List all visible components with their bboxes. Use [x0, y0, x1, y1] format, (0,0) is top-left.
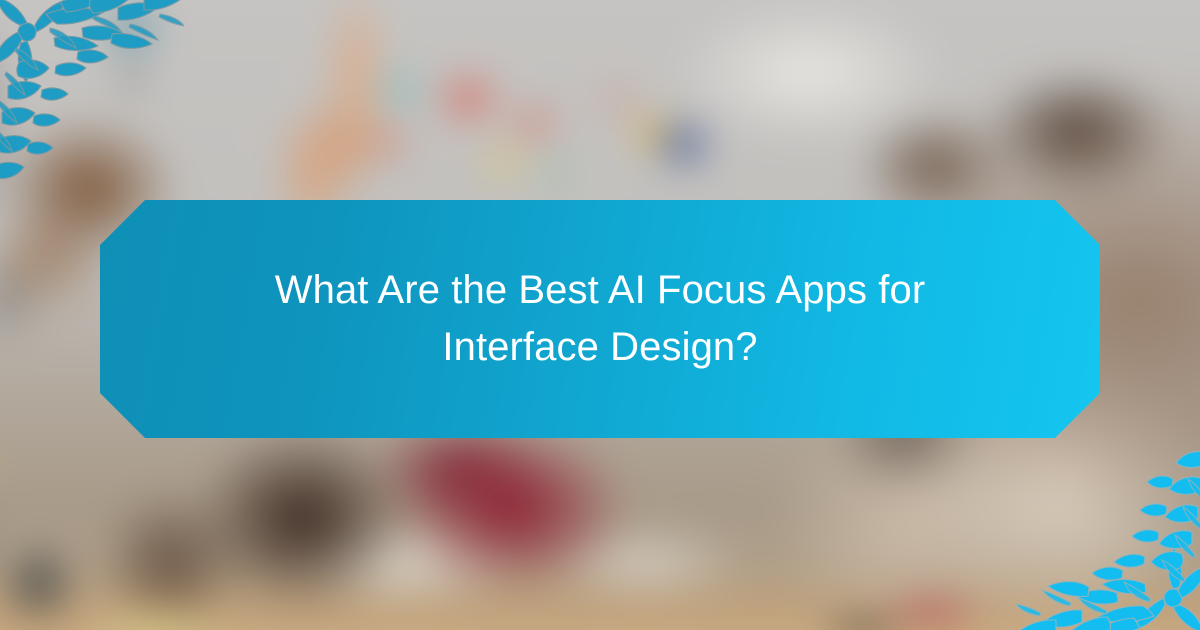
title-banner: What Are the Best AI Focus Apps for Inte… — [100, 200, 1100, 438]
page-title: What Are the Best AI Focus Apps for Inte… — [250, 262, 950, 376]
damask-corner-ornament-bottom-right — [1016, 446, 1200, 630]
damask-corner-ornament-top-left — [0, 0, 184, 184]
hero-banner-canvas: What Are the Best AI Focus Apps for Inte… — [0, 0, 1200, 630]
